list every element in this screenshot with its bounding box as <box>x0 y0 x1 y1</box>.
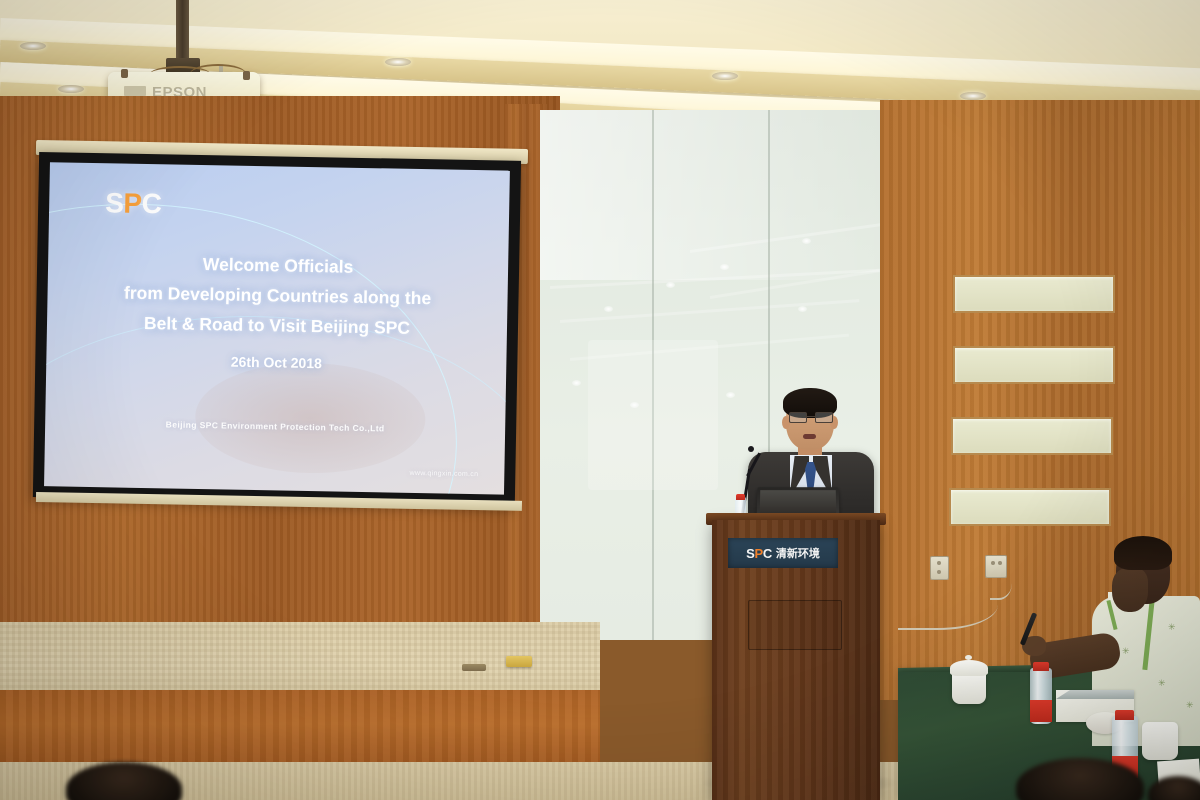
logo-letter-p: P <box>123 188 142 219</box>
wall-glass-inset-1 <box>953 275 1115 313</box>
shirt-pattern-motif: ✳ <box>1122 646 1130 657</box>
wall-glass-inset-3 <box>951 417 1113 455</box>
light-reflection <box>604 306 613 312</box>
projector-knob <box>243 71 250 80</box>
shirt-pattern-motif: ✳ <box>1158 678 1166 689</box>
bottle-cap-1 <box>1033 662 1049 671</box>
shirt-pattern-motif: ✳ <box>1186 700 1194 711</box>
light-reflection <box>798 306 807 312</box>
bottle-cap <box>736 494 745 500</box>
delegate-face <box>1112 568 1148 612</box>
projector-mount-pole <box>176 0 189 62</box>
podium-logo-chinese: 清新环境 <box>776 545 820 561</box>
presentation-slide: SPC Welcome Officials from Developing Co… <box>44 162 510 494</box>
podium-front-panel <box>748 600 842 650</box>
projector-knob <box>121 69 128 78</box>
wall-socket-left <box>930 556 949 580</box>
podium-logo-sign: SPC 清新环境 <box>728 538 838 568</box>
teacup-knob <box>965 655 972 660</box>
recessed-downlight <box>58 85 84 93</box>
bottle-cap-2 <box>1115 710 1134 720</box>
light-reflection <box>726 392 735 398</box>
light-reflection <box>666 282 675 288</box>
projection-screen: SPC Welcome Officials from Developing Co… <box>33 152 521 506</box>
logo-letter-c: C <box>141 188 161 219</box>
shirt-pattern-motif: ✳ <box>1168 622 1176 633</box>
light-reflection <box>572 380 581 386</box>
stage-riser-face <box>0 690 600 766</box>
recessed-downlight <box>385 58 411 66</box>
podium-logo-text: SPC <box>746 546 772 561</box>
teacup-right[interactable] <box>1142 722 1178 760</box>
light-reflection <box>802 238 811 244</box>
slide-website-url: www.qingxin.com.cn <box>409 470 478 478</box>
light-reflection <box>720 264 729 270</box>
speaker-glasses <box>789 412 831 422</box>
recessed-downlight <box>960 92 986 100</box>
recessed-downlight <box>20 42 46 50</box>
teacup-lid-left[interactable] <box>950 660 988 676</box>
floor-outlet-box <box>506 656 532 667</box>
floor-plate <box>462 664 486 671</box>
slide-spc-logo: SPC <box>105 187 162 220</box>
speaker-mouth <box>803 434 816 439</box>
conference-room-photo: EPSON <box>0 0 1200 800</box>
delegate-hair <box>1114 536 1172 570</box>
logo-letter-s: S <box>105 187 124 218</box>
wall-glass-inset-4 <box>949 488 1111 526</box>
podium-logo-letter-c: C <box>763 546 772 561</box>
projector-logo-plate <box>124 86 146 96</box>
recessed-downlight <box>712 72 738 80</box>
podium-logo-letter-p: P <box>754 546 762 561</box>
microphone-capsule <box>748 446 754 452</box>
slide-title-block: Welcome Officials from Developing Countr… <box>47 246 509 344</box>
wall-glass-inset-2 <box>953 346 1115 384</box>
bottle-label-1 <box>1030 700 1052 722</box>
